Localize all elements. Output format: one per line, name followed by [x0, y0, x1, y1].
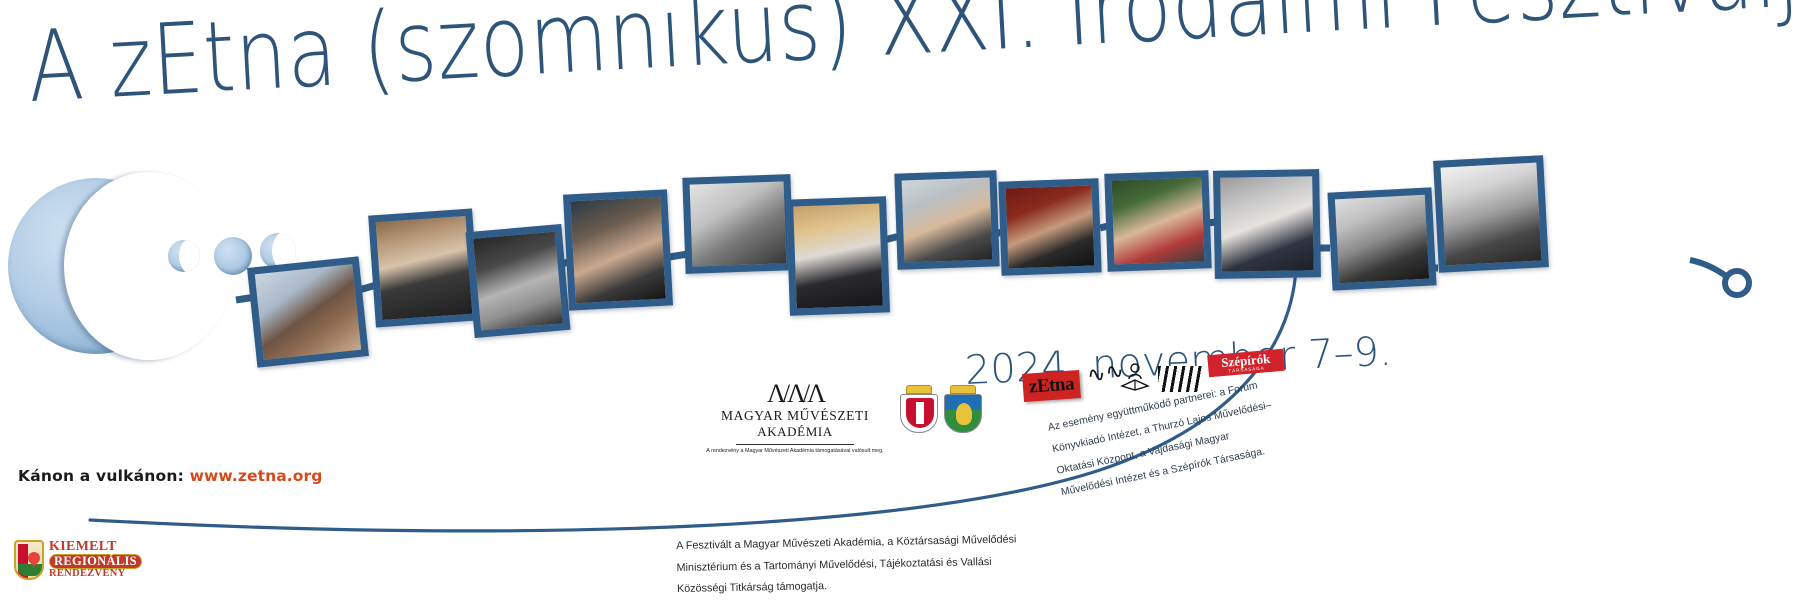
portrait-image	[1220, 176, 1314, 272]
portrait-image	[793, 204, 883, 309]
kiemelt-badge-text: KIEMELT REGIONÁLIS RENDEZVÉNY	[49, 540, 142, 580]
portrait-photo	[1104, 170, 1211, 272]
festival-title-text: A zEtna (szomnikus) XXI. Irodalmi Feszti…	[25, 0, 1735, 116]
shield-crest-icon	[14, 540, 44, 580]
portrait-image	[1112, 177, 1205, 264]
website-link[interactable]: www.zetna.org	[190, 467, 323, 485]
portrait-photo	[466, 224, 571, 338]
center-credit-block: A Fesztivált a Magyar Művészeti Akadémia…	[676, 528, 1107, 601]
mma-mark-icon: Λ/Λ/Λ	[700, 382, 890, 405]
vojvodina-coat-of-arms-icon	[944, 385, 982, 433]
tagline-prefix: Kánon a vulkánon:	[18, 467, 190, 485]
moon-phase-waning-icon	[168, 240, 200, 272]
tagline: Kánon a vulkánon: www.zetna.org	[18, 467, 322, 485]
portrait-image	[1335, 195, 1429, 284]
portrait-image	[473, 232, 563, 331]
kiemelt-regionalis-badge: KIEMELT REGIONÁLIS RENDEZVÉNY	[14, 535, 126, 585]
portrait-photo	[1213, 169, 1321, 279]
portrait-image	[255, 264, 361, 360]
portrait-image	[1441, 163, 1542, 266]
zetna-logo: zEtna	[1022, 370, 1081, 402]
portrait-photo	[247, 256, 369, 367]
portrait-image	[570, 197, 665, 304]
portrait-image	[1006, 186, 1095, 269]
shield-base-green	[18, 564, 42, 576]
portrait-photo	[894, 170, 999, 270]
crown-icon	[906, 385, 932, 394]
portrait-photo	[998, 178, 1101, 275]
kiemelt-line-2: REGIONÁLIS	[49, 554, 142, 569]
crest-body	[900, 394, 938, 433]
mma-name-line-1: MAGYAR MŰVÉSZETI	[700, 408, 890, 424]
portrait-photo	[563, 189, 673, 310]
portrait-image	[690, 181, 787, 266]
moon-large-icon	[8, 178, 184, 354]
kiemelt-line-3: RENDEZVÉNY	[49, 569, 142, 580]
crest-body	[944, 394, 982, 433]
page-title: A zEtna (szomnikus) XXI. Irodalmi Feszti…	[26, 0, 1788, 109]
mma-divider	[736, 444, 854, 445]
mma-subtitle: A rendezvény a Magyar Művészeti Akadémia…	[700, 448, 890, 456]
crown-icon	[950, 385, 976, 394]
serbia-coat-of-arms-icon	[900, 385, 938, 433]
festival-poster: A zEtna (szomnikus) XXI. Irodalmi Feszti…	[0, 0, 1800, 611]
portrait-image	[902, 177, 993, 262]
portrait-image	[376, 216, 473, 320]
portrait-photo	[368, 209, 480, 328]
kiemelt-line-1: KIEMELT	[49, 540, 142, 554]
mma-name-line-2: AKADÉMIA	[700, 424, 890, 440]
portrait-photo	[1328, 187, 1437, 290]
zetna-logo-text: zEtna	[1028, 373, 1074, 398]
reader-with-book-icon	[1118, 360, 1152, 394]
magyar-muveszeti-akademia-logo: Λ/Λ/Λ MAGYAR MŰVÉSZETI AKADÉMIA A rendez…	[700, 382, 890, 456]
portrait-photo	[1433, 155, 1549, 273]
pen-scribble-icon: ∿∿	[1086, 362, 1117, 396]
portrait-photo	[786, 196, 890, 315]
portrait-photo	[682, 174, 793, 274]
